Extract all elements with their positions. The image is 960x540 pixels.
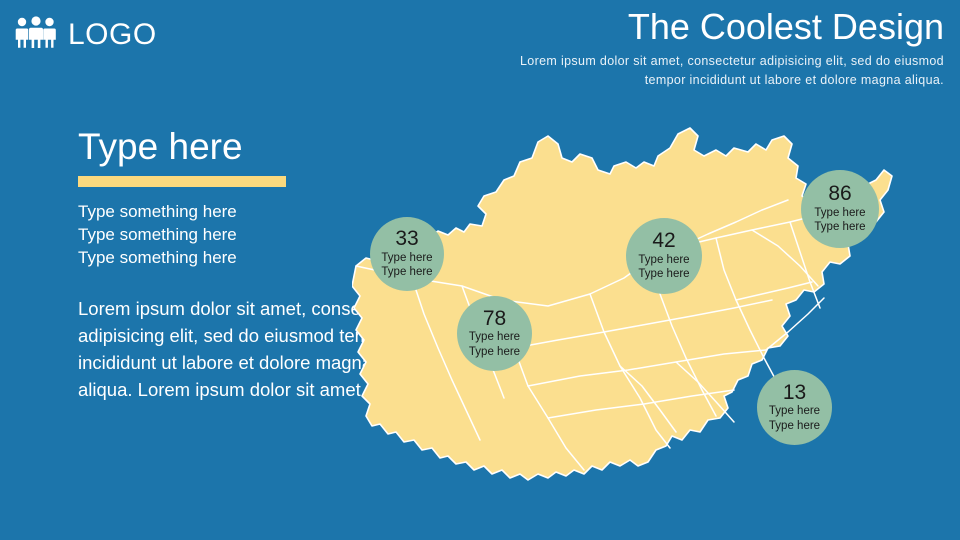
logo-block[interactable]: LOGO [14, 16, 157, 53]
page-subtitle: Lorem ipsum dolor sit amet, consectetur … [444, 52, 944, 91]
marker-label-line-1: Type here [381, 251, 432, 265]
marker-label-line-1: Type here [769, 404, 820, 418]
marker-label-line-2: Type here [469, 345, 520, 359]
marker-label-line-1: Type here [469, 330, 520, 344]
marker-label-line-1: Type here [638, 253, 689, 267]
accent-underline-bar [78, 176, 286, 187]
page-title: The Coolest Design [628, 6, 944, 47]
subtitle-line-2: tempor incididunt ut labore et dolore ma… [444, 71, 944, 90]
map-marker-bubble[interactable]: 33 Type here Type here [370, 217, 444, 291]
map-marker-bubble[interactable]: 78 Type here Type here [457, 296, 532, 371]
marker-label-line-2: Type here [769, 419, 820, 433]
map-marker-bubble[interactable]: 13 Type here Type here [757, 370, 832, 445]
logo-text: LOGO [68, 20, 157, 50]
subtitle-line-1: Lorem ipsum dolor sit amet, consectetur … [444, 52, 944, 71]
marker-value: 13 [783, 382, 806, 405]
marker-label-line-1: Type here [814, 206, 865, 220]
marker-value: 42 [652, 230, 675, 253]
map-marker-bubble[interactable]: 86 Type here Type here [801, 170, 879, 248]
marker-value: 33 [395, 228, 418, 251]
marker-value: 86 [828, 183, 851, 206]
map-marker-bubble[interactable]: 42 Type here Type here [626, 218, 702, 294]
marker-label-line-2: Type here [814, 220, 865, 234]
slide-canvas: LOGO The Coolest Design Lorem ipsum dolo… [0, 0, 960, 540]
people-group-icon [14, 16, 58, 53]
marker-label-line-2: Type here [638, 267, 689, 281]
marker-label-line-2: Type here [381, 265, 432, 279]
marker-value: 78 [483, 308, 506, 331]
